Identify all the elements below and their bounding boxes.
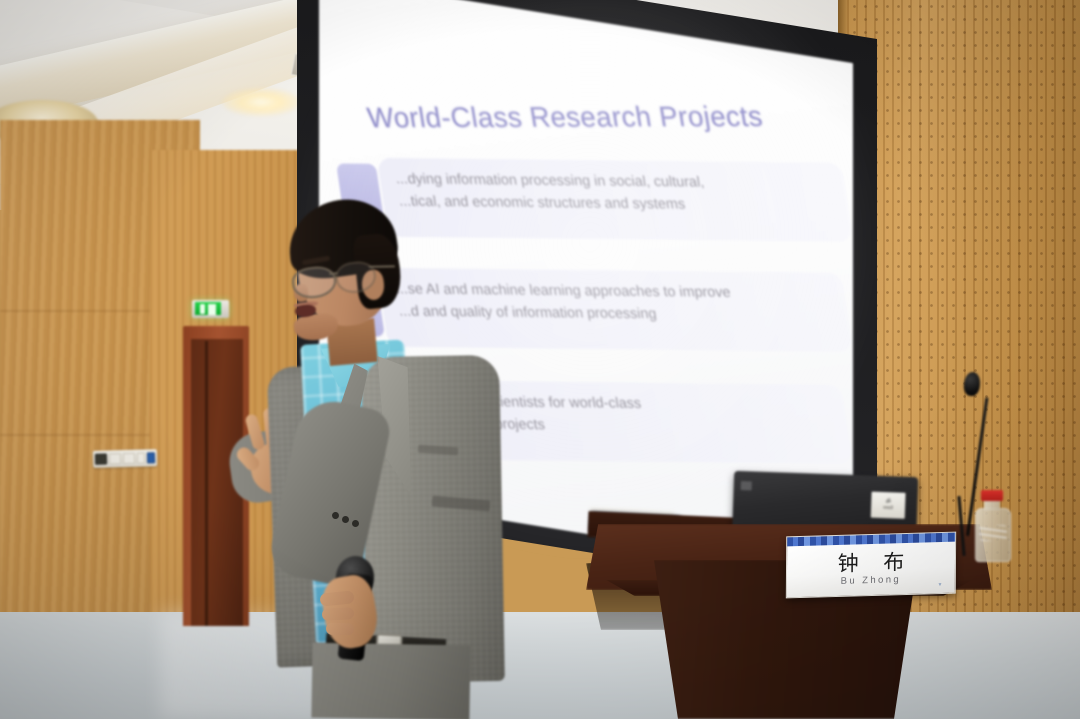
finger: [322, 607, 355, 621]
name-placard: 钟 布 Bu Zhong ▼: [786, 532, 956, 599]
sleeve-button: [342, 516, 349, 523]
light-switch[interactable]: [108, 453, 121, 464]
water-bottle-cap: [981, 490, 1003, 501]
exit-sign: [192, 300, 229, 318]
placard-logo-icon: ▼: [937, 582, 942, 588]
exit-door-icon: [208, 304, 216, 315]
light-switch[interactable]: [123, 453, 136, 464]
exit-sign-icon: [195, 302, 221, 315]
wall-switch-panel[interactable]: [93, 449, 157, 468]
presentation-photo-scene: World-Class Research Projects ...dying i…: [0, 0, 1080, 719]
downlight-icon: [222, 88, 300, 116]
sticker-text: नमस्ते: [883, 506, 893, 511]
laptop-sticker: ॐ नमस्ते: [871, 492, 906, 519]
water-bottle[interactable]: [975, 508, 1011, 562]
finger: [244, 413, 265, 451]
placard-top-band: [787, 533, 955, 547]
bottle-label: [979, 525, 1007, 541]
light-switch[interactable]: [137, 452, 146, 463]
power-outlet[interactable]: [147, 452, 155, 463]
door-gap: [205, 341, 208, 626]
switch-display[interactable]: [95, 453, 107, 464]
slide-bullet-row: ...dying information processing in socia…: [337, 170, 851, 176]
laptop-brand-logo: [741, 481, 752, 490]
slide-title: World-Class Research Projects: [365, 101, 765, 135]
sleeve-button: [352, 520, 359, 527]
speaker-person: [236, 196, 566, 719]
speaker-trousers: [311, 643, 470, 719]
finger: [326, 623, 354, 636]
running-man-icon: [200, 304, 205, 314]
